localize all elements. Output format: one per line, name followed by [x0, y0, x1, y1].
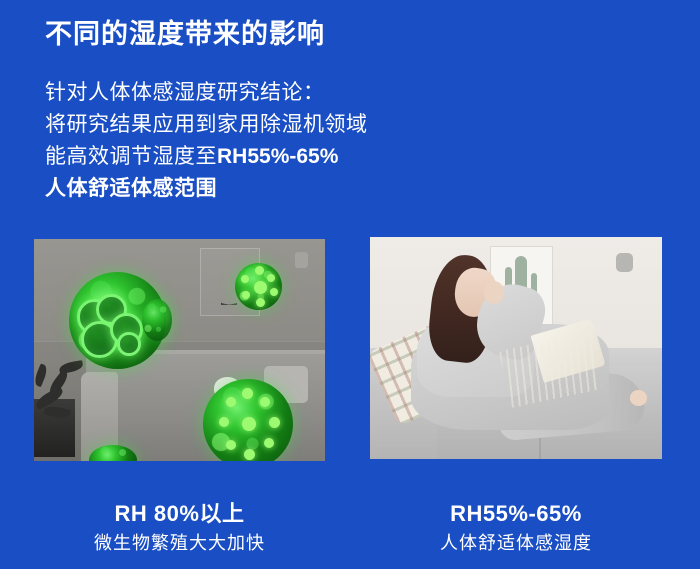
microbe-sphere-edge	[142, 299, 172, 341]
wall-speaker-icon	[295, 252, 308, 268]
microbe-spike	[255, 266, 264, 275]
microbe-spike	[226, 440, 236, 450]
body-line-3: 能高效调节湿度至RH55%-65%	[45, 141, 368, 173]
microbe-spike	[267, 274, 275, 282]
body-line-3-prefix: 能高效调节湿度至	[45, 145, 217, 168]
microbe-sphere-small	[235, 263, 282, 310]
photo-panel-high-humidity	[34, 239, 325, 461]
microbe-spike	[241, 275, 249, 283]
caption-title: RH55%-65%	[370, 500, 662, 528]
microbe-spike	[254, 281, 267, 294]
person-foot	[630, 390, 648, 406]
dim-room-scene	[34, 239, 325, 461]
body-line-1: 针对人体体感湿度研究结论：	[45, 77, 368, 109]
microbe-spike	[242, 417, 256, 431]
body-line-4: 人体舒适体感范围	[45, 173, 368, 205]
humidity-range-highlight: RH55%-65%	[217, 145, 338, 168]
microbe-spike	[242, 388, 253, 399]
microbe-spike	[244, 449, 255, 460]
photo-panel-comfort-humidity	[370, 237, 662, 459]
caption-comfort-humidity: RH55%-65% 人体舒适体感湿度	[370, 500, 662, 557]
microbe-cell	[117, 332, 140, 355]
bright-room-scene	[370, 237, 662, 459]
microbe-spike	[219, 417, 229, 427]
microbe-spike	[260, 397, 270, 407]
wall-speaker-icon	[616, 253, 633, 272]
body-copy: 针对人体体感湿度研究结论： 将研究结果应用到家用除湿机领域 能高效调节湿度至RH…	[45, 77, 368, 205]
caption-subtitle: 人体舒适体感湿度	[370, 530, 662, 557]
person-hand	[484, 281, 504, 303]
microbe-spike	[270, 288, 278, 296]
microbe-spike	[226, 397, 236, 407]
page-title: 不同的湿度带来的影响	[45, 18, 325, 52]
caption-title: RH 80%以上	[34, 500, 325, 528]
caption-high-humidity: RH 80%以上 微生物繁殖大大加快	[34, 500, 325, 557]
humidity-comparison-poster: 不同的湿度带来的影响 针对人体体感湿度研究结论： 将研究结果应用到家用除湿机领域…	[0, 0, 700, 569]
microbe-spike	[242, 291, 250, 299]
caption-subtitle: 微生物繁殖大大加快	[34, 530, 325, 557]
microbe-spike	[264, 438, 274, 448]
microbe-spike	[256, 298, 265, 307]
body-line-2: 将研究结果应用到家用除湿机领域	[45, 109, 368, 141]
microbe-spike	[269, 417, 280, 428]
microbe-sphere-medium	[203, 379, 293, 461]
